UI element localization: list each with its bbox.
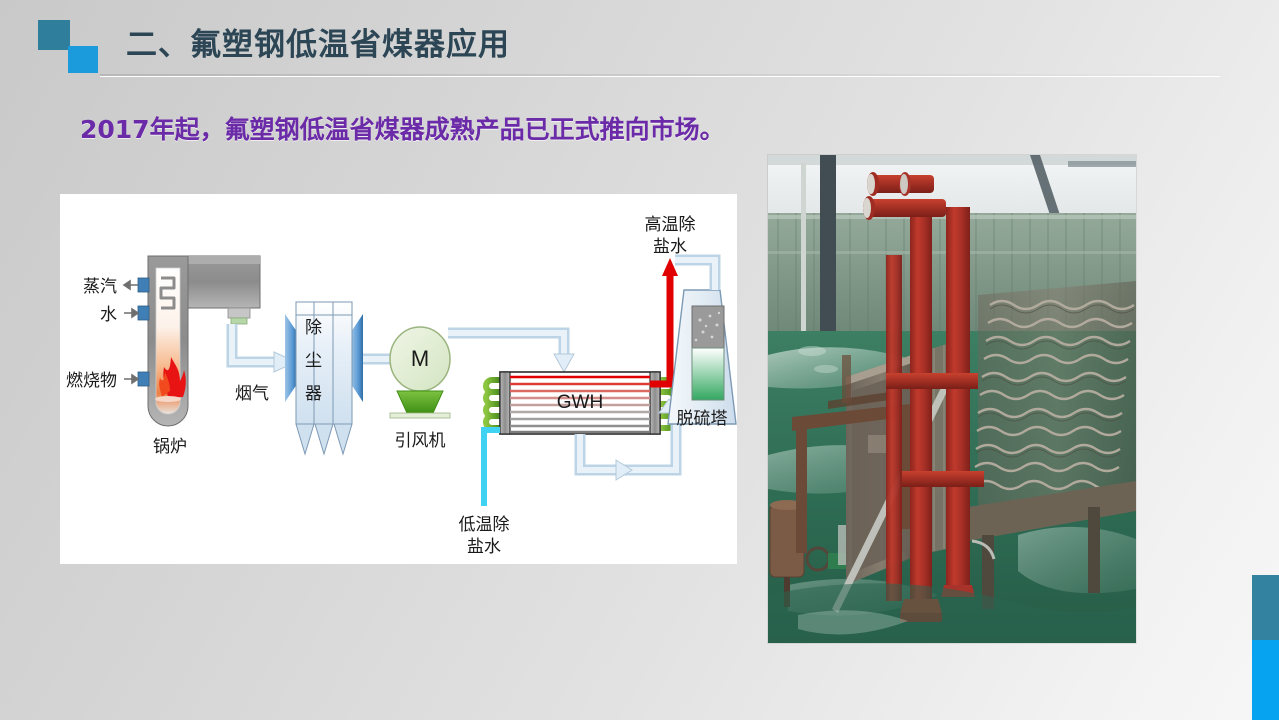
decoration-square-top xyxy=(38,20,70,50)
cold-demin-water-line xyxy=(484,430,500,506)
label-desulfurization-tower: 脱硫塔 xyxy=(677,409,728,429)
label-induced-draft-fan: 引风机 xyxy=(395,431,446,451)
label-dust-collector-3: 器 xyxy=(305,384,322,404)
label-boiler: 锅炉 xyxy=(153,437,187,457)
process-flow-diagram: 蒸汽 水 燃烧物 锅炉 烟气 除 尘 器 M 引风机 xyxy=(60,194,737,564)
title-decoration xyxy=(38,20,102,70)
label-flue-gas: 烟气 xyxy=(235,384,269,404)
title-divider xyxy=(100,74,1220,77)
label-dust-collector-2: 尘 xyxy=(305,351,322,371)
label-heat-exchanger: GWH xyxy=(557,392,603,413)
label-hot-water-line2: 盐水 xyxy=(653,237,687,257)
label-hot-water-line1: 高温除 xyxy=(645,215,696,235)
label-cold-water-line1: 低温除 xyxy=(459,515,510,535)
edge-accent-bar xyxy=(1252,575,1279,720)
label-dust-collector-1: 除 xyxy=(305,318,322,338)
coil-left xyxy=(486,380,500,428)
label-fan-motor: M xyxy=(411,346,429,371)
dust-collector-unit xyxy=(285,302,363,454)
induced-draft-fan-unit xyxy=(390,327,450,418)
page-title: 二、氟塑钢低温省煤器应用 xyxy=(126,19,510,64)
desulfurization-tower-unit xyxy=(668,260,736,424)
label-water: 水 xyxy=(100,305,117,325)
label-steam: 蒸汽 xyxy=(83,277,117,297)
subtitle-text: 2017年起，氟塑钢低温省煤器成熟产品已正式推向市场。 xyxy=(80,110,725,146)
duct-fan-to-heat-exchanger xyxy=(448,333,574,372)
decoration-square-bottom xyxy=(68,46,98,73)
edge-accent-bottom xyxy=(1252,640,1279,720)
label-cold-water-line2: 盐水 xyxy=(467,537,501,557)
site-photo xyxy=(768,155,1136,643)
hot-demin-water-line xyxy=(650,258,678,384)
edge-accent-top xyxy=(1252,575,1279,640)
label-fuel: 燃烧物 xyxy=(66,371,117,391)
